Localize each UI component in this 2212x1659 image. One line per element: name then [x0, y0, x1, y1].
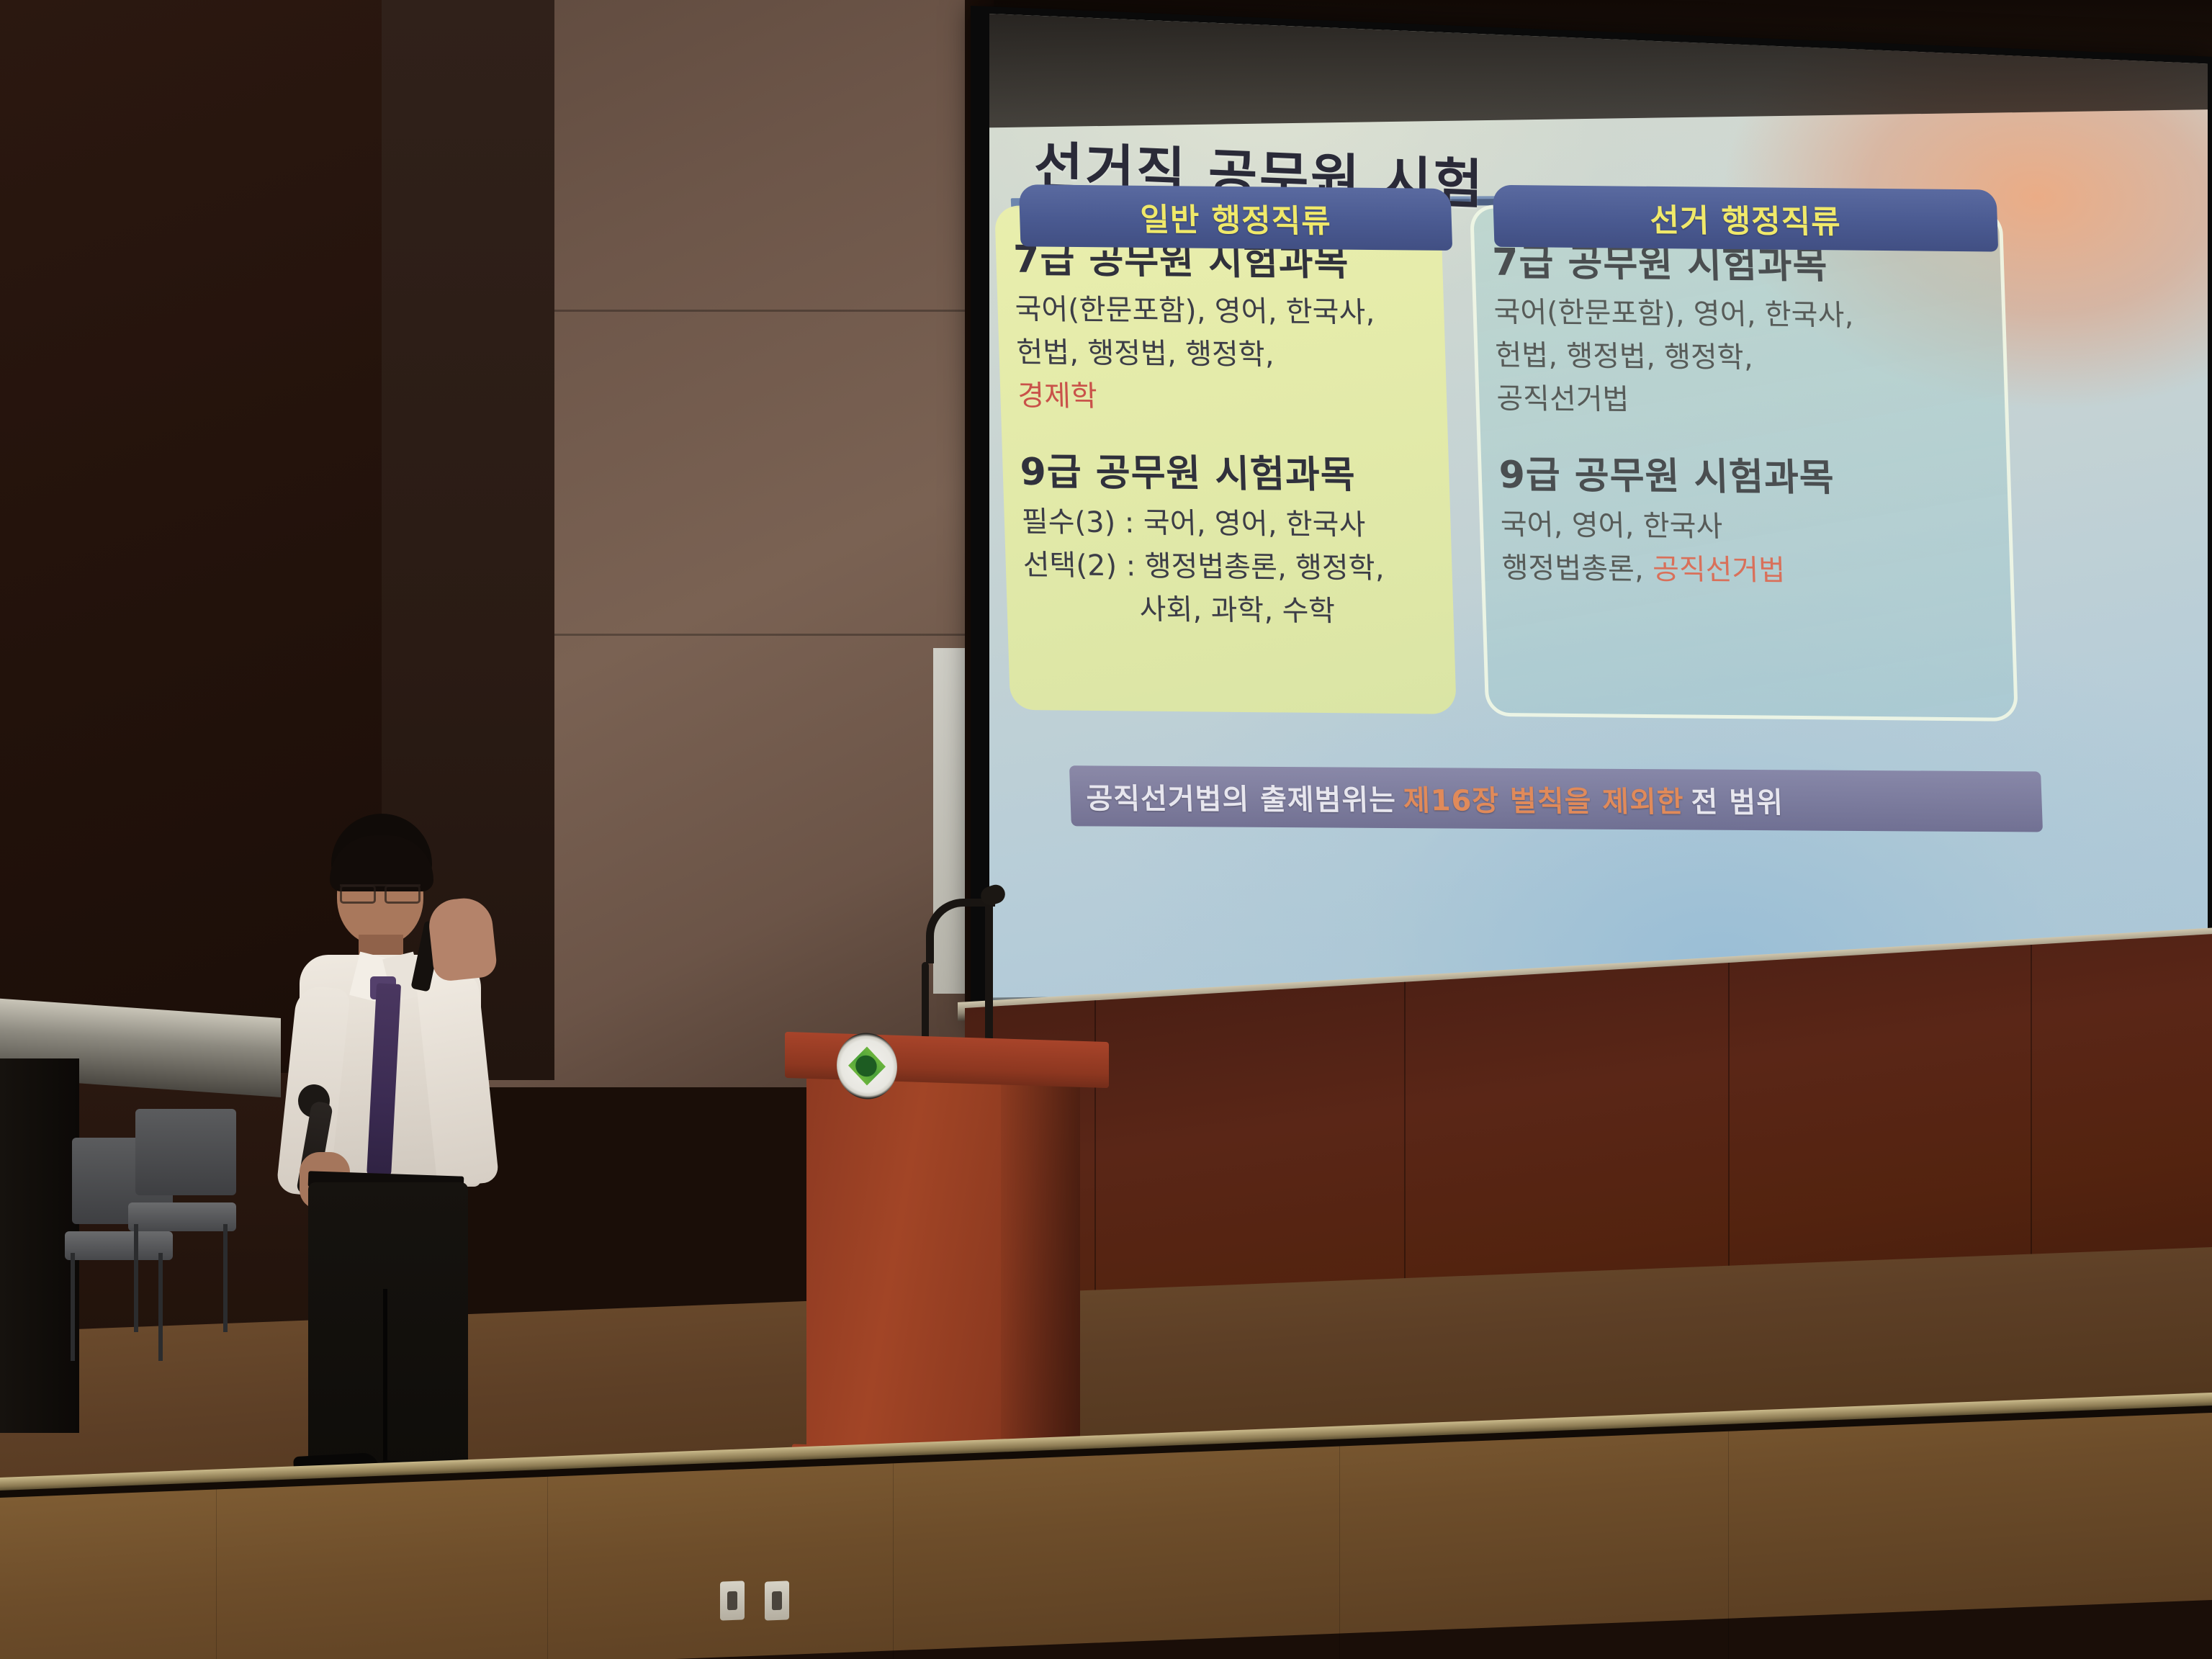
projected-slide: 선거직 공무원 시험 7급 공무원 시험과목 국어(한문포함), 영어, 한국사…	[989, 14, 2208, 1066]
subject-line: 헌법, 행정법, 행정학,	[1016, 329, 1429, 375]
subject-line: 사회, 과학, 수학	[1024, 585, 1437, 631]
slide-footer-note: 공직선거법의 출제범위는 제16장 벌칙을 제외한 전 범위	[1069, 765, 2043, 832]
subject-line-highlight: 공직선거법	[1652, 553, 1785, 588]
speaker-figure	[274, 814, 533, 1512]
floor-grain	[216, 1489, 217, 1659]
floor-outlet[interactable]	[720, 1581, 745, 1620]
subject-line-highlight: 공직선거법	[1496, 375, 1987, 422]
footer-emphasis: 제16장 벌칙을 제외한	[1403, 777, 1685, 820]
subject-line-mixed: 행정법총론, 공직선거법	[1501, 544, 1993, 591]
leg-separation	[383, 1289, 387, 1476]
floor-grain	[547, 1477, 548, 1659]
subject-line: 필수(3) : 국어, 영어, 한국사	[1021, 498, 1434, 544]
microphone-stem	[985, 900, 993, 1041]
floor-grain	[1728, 1431, 1729, 1659]
subject-line: 선택(2) : 행정법총론, 행정학,	[1022, 541, 1436, 588]
column-election-administration: 7급 공무원 시험과목 국어(한문포함), 영어, 한국사, 헌법, 행정법, …	[1470, 204, 2018, 721]
heading-grade9: 9급 공무원 시험과목	[1019, 441, 1432, 500]
subject-line-highlight: 경제학	[1017, 372, 1430, 418]
chair-seat	[128, 1202, 236, 1231]
hand-raised	[426, 896, 498, 983]
eyeglasses	[340, 884, 421, 899]
chair-frame	[134, 1224, 138, 1332]
lectern-shading	[1001, 1079, 1080, 1456]
lecture-hall-scene: 선거직 공무원 시험 7급 공무원 시험과목 국어(한문포함), 영어, 한국사…	[0, 0, 2212, 1659]
leaf-emblem-icon	[848, 1046, 886, 1087]
banner-election-administration: 선거 행정직류	[1493, 185, 1998, 252]
column-general-administration: 7급 공무원 시험과목 국어(한문포함), 영어, 한국사, 헌법, 행정법, …	[994, 205, 1457, 714]
projection-screen: 선거직 공무원 시험 7급 공무원 시험과목 국어(한문포함), 영어, 한국사…	[971, 6, 2212, 1079]
chair-frame	[158, 1253, 163, 1361]
banner-general-administration: 일반 행정직류	[1019, 184, 1452, 251]
chair-frame	[71, 1253, 75, 1361]
floor-outlet[interactable]	[765, 1581, 789, 1620]
spacer	[1018, 415, 1431, 441]
floor-grain	[1339, 1447, 1340, 1659]
footer-trail: 전 범위	[1691, 778, 1784, 821]
subject-line-text: 행정법총론,	[1501, 552, 1653, 586]
subject-line: 국어(한문포함), 영어, 한국사,	[1015, 286, 1428, 332]
subject-line: 국어(한문포함), 영어, 한국사,	[1493, 289, 1985, 336]
chair-seat	[65, 1231, 173, 1260]
floor-grain	[893, 1463, 894, 1659]
chair-back	[135, 1109, 236, 1195]
subject-line: 헌법, 행정법, 행정학,	[1495, 332, 1987, 379]
spacer	[1497, 418, 1989, 445]
heading-grade9: 9급 공무원 시험과목	[1498, 444, 1990, 503]
footer-lead: 공직선거법의 출제범위는	[1085, 775, 1396, 819]
trousers	[308, 1182, 468, 1470]
subject-line: 국어, 영어, 한국사	[1500, 501, 1992, 548]
chair-frame	[223, 1224, 228, 1332]
